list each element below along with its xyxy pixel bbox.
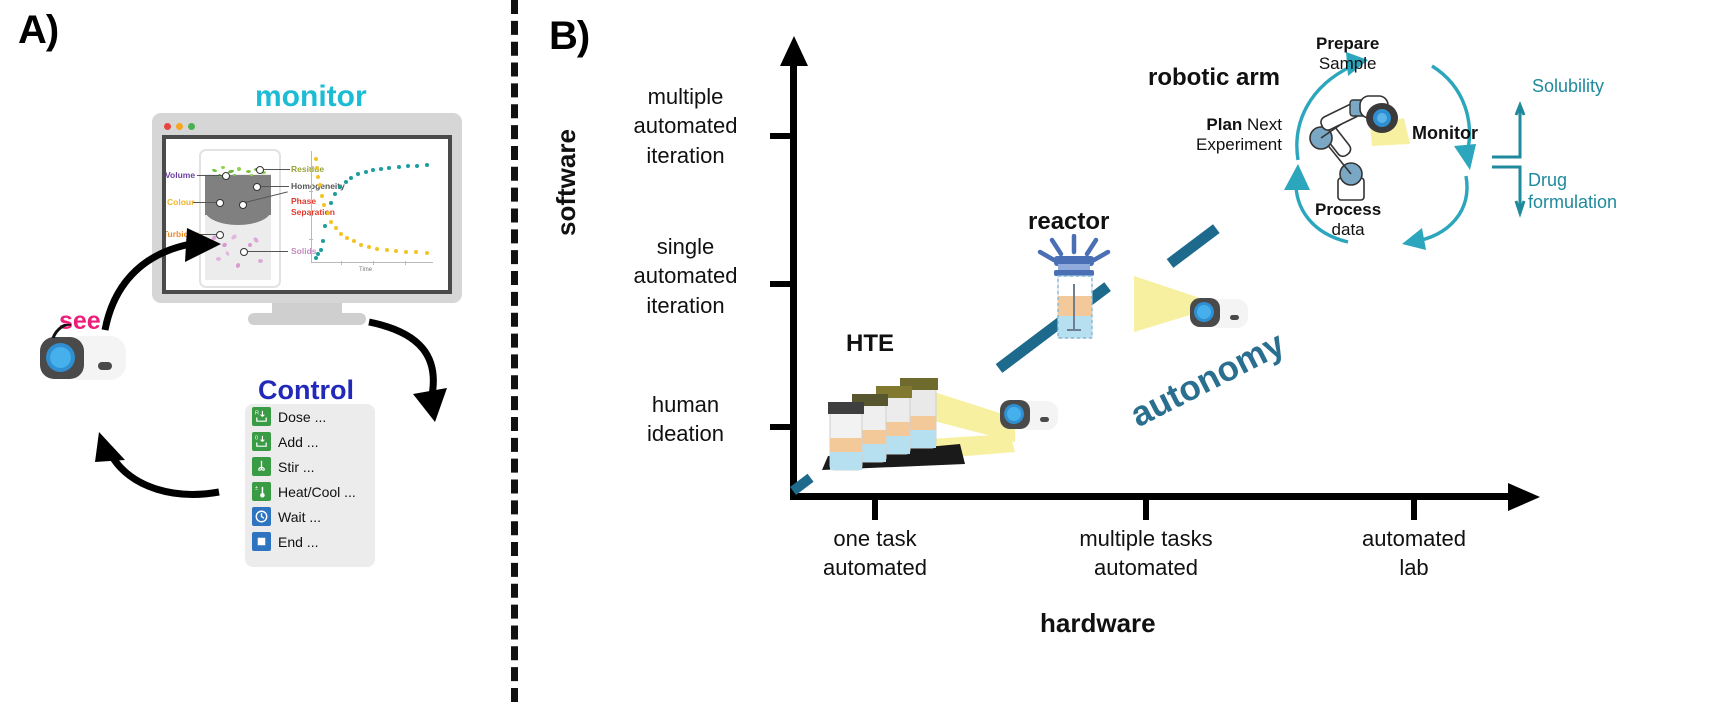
add-icon: 0 — [252, 432, 271, 451]
dose-icon: R — [252, 407, 271, 426]
cycle-step-process: Process data — [1315, 200, 1381, 241]
residue-speck — [233, 174, 236, 176]
plot-point — [329, 201, 333, 205]
control-item-label: End ... — [278, 534, 318, 550]
hte-vials-graphic — [810, 360, 1025, 485]
control-item-dose[interactable]: R Dose ... — [245, 404, 375, 429]
plot-point — [322, 203, 326, 207]
stir-icon — [252, 457, 271, 476]
wait-icon — [252, 507, 271, 526]
plot-point — [425, 251, 429, 255]
node-homogeneity — [253, 183, 261, 191]
x-axis-title: hardware — [1040, 608, 1156, 639]
x-tick-label-automated-lab: automated lab — [1305, 524, 1523, 583]
leader-homogeneity — [259, 186, 289, 187]
control-item-label: Dose ... — [278, 409, 326, 425]
residue-speck — [246, 170, 251, 173]
arrow-control-to-see — [95, 430, 230, 510]
end-icon — [252, 532, 271, 551]
y-tick-label-multiple: multiple automated iteration — [608, 82, 763, 170]
plot-tick — [341, 261, 342, 265]
y-axis-arrowhead — [779, 36, 809, 68]
plot-point — [367, 245, 371, 249]
window-dot-amber — [176, 123, 183, 130]
leader-colour — [193, 202, 218, 203]
plot-point — [316, 175, 320, 179]
plot-point — [329, 220, 333, 224]
plot-point — [314, 157, 318, 161]
x-tick-mark — [1411, 498, 1417, 520]
x-tick-label-multiple-tasks: multiple tasks automated — [1030, 524, 1262, 583]
plot-x-label: Time — [359, 267, 372, 273]
x-axis-arrowhead — [1508, 482, 1540, 512]
node-residue — [256, 166, 264, 174]
plot-point — [334, 226, 338, 230]
monitor-titlebar — [158, 119, 456, 133]
x-tick-label-one-task: one task automated — [780, 524, 970, 583]
x-tick-mark — [1143, 498, 1149, 520]
panel-a-letter: A) — [18, 8, 58, 53]
control-item-wait[interactable]: Wait ... — [245, 504, 375, 529]
reactor-label: reactor — [1028, 208, 1109, 236]
label-colour: Colour — [167, 197, 194, 207]
plot-point — [349, 176, 353, 180]
svg-text:0: 0 — [255, 436, 258, 442]
camera-icon-hte — [1000, 398, 1058, 434]
cycle-step-plan: Plan Next Experiment — [1196, 115, 1282, 156]
plot-point — [397, 165, 401, 169]
control-item-label: Heat/Cool ... — [278, 484, 356, 500]
plot-point — [356, 172, 360, 176]
output-drug-formulation: Drug formulation — [1528, 170, 1617, 213]
plot-point — [371, 168, 375, 172]
x-axis — [790, 493, 1517, 500]
panel-divider — [511, 0, 518, 702]
plot-point — [406, 164, 410, 168]
output-solubility: Solubility — [1532, 76, 1604, 98]
plot-point — [385, 248, 389, 252]
plot-point — [318, 183, 322, 187]
plot-point — [323, 224, 327, 228]
plot-point — [364, 170, 368, 174]
svg-text:±: ± — [255, 486, 258, 492]
plot-tick — [309, 191, 313, 192]
control-item-stir[interactable]: Stir ... — [245, 454, 375, 479]
autonomy-bar-upper — [1167, 224, 1220, 268]
control-item-label: Add ... — [278, 434, 318, 450]
y-tick-label-single: single automated iteration — [608, 232, 763, 320]
plot-point — [345, 236, 349, 240]
plot-point — [321, 239, 325, 243]
plot-point — [394, 249, 398, 253]
control-item-label: Wait ... — [278, 509, 321, 525]
svg-text:R: R — [255, 411, 259, 417]
camera-icon — [40, 334, 126, 384]
node-phase — [239, 201, 247, 209]
autonomy-label: autonomy — [1124, 324, 1291, 436]
control-item-label: Stir ... — [278, 459, 315, 475]
leader-residue — [262, 169, 290, 170]
leader-volume — [197, 175, 225, 176]
plot-point — [379, 167, 383, 171]
hte-label: HTE — [846, 330, 894, 358]
control-item-end[interactable]: End ... — [245, 529, 375, 554]
plot-x-axis — [311, 262, 433, 263]
x-tick-mark — [872, 498, 878, 520]
plot-point — [375, 247, 379, 251]
robot-arm-graphic — [1298, 82, 1416, 202]
monitor-plot: Time — [311, 151, 436, 279]
plot-tick — [309, 167, 313, 168]
plot-point — [404, 250, 408, 254]
control-item-add[interactable]: 0 Add ... — [245, 429, 375, 454]
plot-point — [316, 252, 320, 256]
plot-point — [414, 250, 418, 254]
residue-speck — [221, 166, 225, 169]
control-panel: R Dose ... 0 Add ... Stir ... ± Heat/Coo… — [245, 404, 375, 567]
plot-point — [338, 185, 342, 189]
panel-b-letter: B) — [549, 14, 589, 59]
window-dot-green — [188, 123, 195, 130]
cycle-step-monitor: Monitor — [1412, 123, 1478, 145]
plot-tick — [373, 261, 374, 265]
residue-speck — [237, 167, 241, 171]
y-tick-mark — [770, 281, 794, 287]
plot-point — [339, 232, 343, 236]
plot-point — [425, 163, 429, 167]
node-colour — [216, 199, 224, 207]
robotic-arm-label: robotic arm — [1148, 64, 1280, 92]
plot-point — [319, 248, 323, 252]
monitor-label: monitor — [255, 80, 367, 114]
cycle-step-prepare: Prepare Sample — [1316, 34, 1379, 75]
plot-tick — [405, 261, 406, 265]
heat-cool-icon: ± — [252, 482, 271, 501]
plot-point — [333, 192, 337, 196]
reactor-graphic — [1028, 234, 1138, 344]
monitor-stand-foot — [248, 313, 366, 325]
plot-point — [387, 166, 391, 170]
y-tick-label-human: human ideation — [608, 390, 763, 449]
arrow-see-to-monitor — [95, 222, 255, 342]
plot-point — [359, 243, 363, 247]
y-tick-mark — [770, 133, 794, 139]
node-volume — [222, 172, 230, 180]
plot-tick — [309, 239, 313, 240]
plot-point — [415, 164, 419, 168]
camera-icon-reactor — [1190, 296, 1248, 332]
plot-point — [352, 239, 356, 243]
plot-point — [315, 166, 319, 170]
y-tick-mark — [770, 424, 794, 430]
control-item-heatcool[interactable]: ± Heat/Cool ... — [245, 479, 375, 504]
window-dot-red — [164, 123, 171, 130]
y-axis-title: software — [551, 129, 582, 236]
control-label: Control — [258, 375, 354, 406]
plot-point — [314, 256, 318, 260]
plot-point — [326, 211, 330, 215]
plot-tick — [309, 215, 313, 216]
plot-point — [344, 180, 348, 184]
plot-point — [320, 194, 324, 198]
solids-speck — [258, 259, 263, 263]
label-volume: Volume — [165, 170, 195, 180]
residue-speck — [250, 174, 253, 176]
